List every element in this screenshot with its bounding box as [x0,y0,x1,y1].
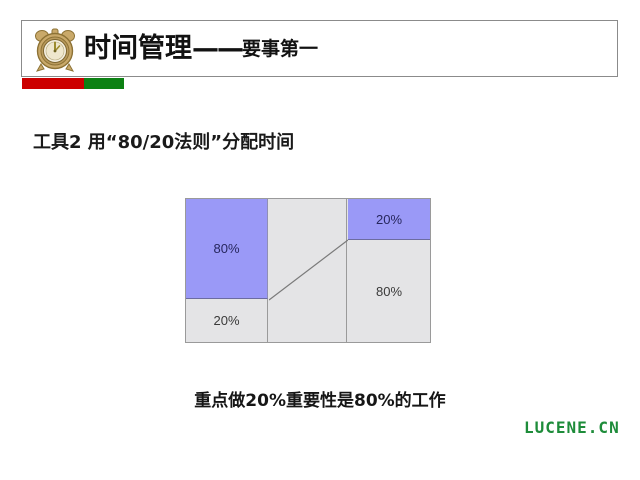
page-title-main: 时间管理 [84,33,192,64]
diagram-caption: 重点做20%重要性是80%的工作 [0,386,640,411]
watermark-logo: LUCENE.CN [524,418,620,437]
page-title-dash: —— [192,33,242,64]
diagram-cell-right-bottom: 80% [348,240,430,342]
diagram-cell-left-top: 80% [186,199,268,299]
alarm-clock-icon [32,26,78,73]
diagram-cell-middle-connector [269,199,347,342]
page-title-sub: 要事第一 [242,38,318,60]
diagram-cell-left-bottom: 20% [186,299,268,342]
header-title-box: 时间管理——要事第一 [21,20,618,77]
pareto-diagram: 80% 20% 20% 80% [185,198,431,343]
subtitle-text: 工具2 用“80/20法则”分配时间 [33,128,294,154]
diagram-cell-right-top: 20% [348,199,430,240]
page-title: 时间管理——要事第一 [84,27,318,71]
accent-bar [22,78,124,89]
accent-bar-green-segment [84,78,124,89]
accent-bar-red-segment [22,78,84,89]
